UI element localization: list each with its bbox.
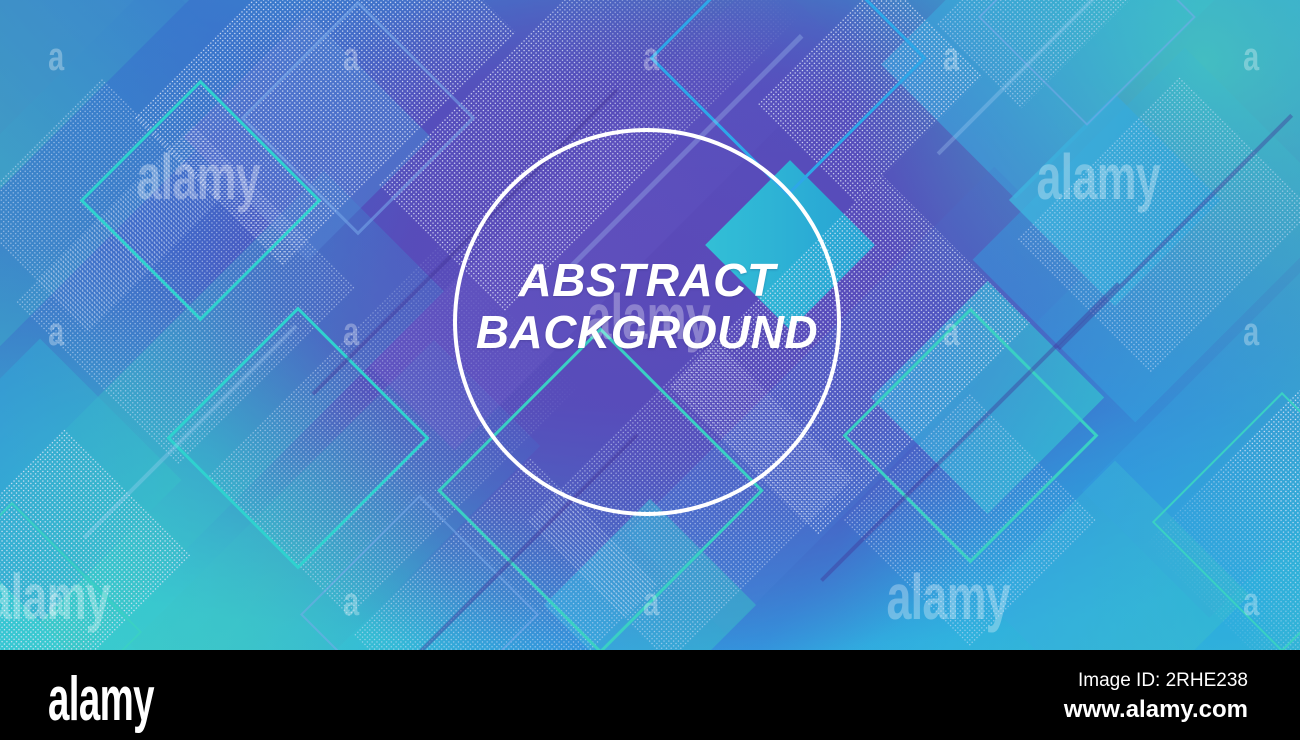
- alamy-logo: alamy: [48, 664, 154, 735]
- watermark-letter: a: [1243, 35, 1259, 80]
- abstract-background-artwork: a a a a a alamy alamy alamy alamy alamy …: [0, 0, 1300, 650]
- headline-text: ABSTRACT BACKGROUND: [453, 255, 841, 358]
- alamy-footer-bar: alamy Image ID: 2RHE238 www.alamy.com: [0, 650, 1300, 740]
- image-id-label: Image ID: 2RHE238: [1078, 670, 1248, 692]
- website-url[interactable]: www.alamy.com: [1064, 696, 1248, 724]
- screenshot-root: a a a a a alamy alamy alamy alamy alamy …: [0, 0, 1300, 740]
